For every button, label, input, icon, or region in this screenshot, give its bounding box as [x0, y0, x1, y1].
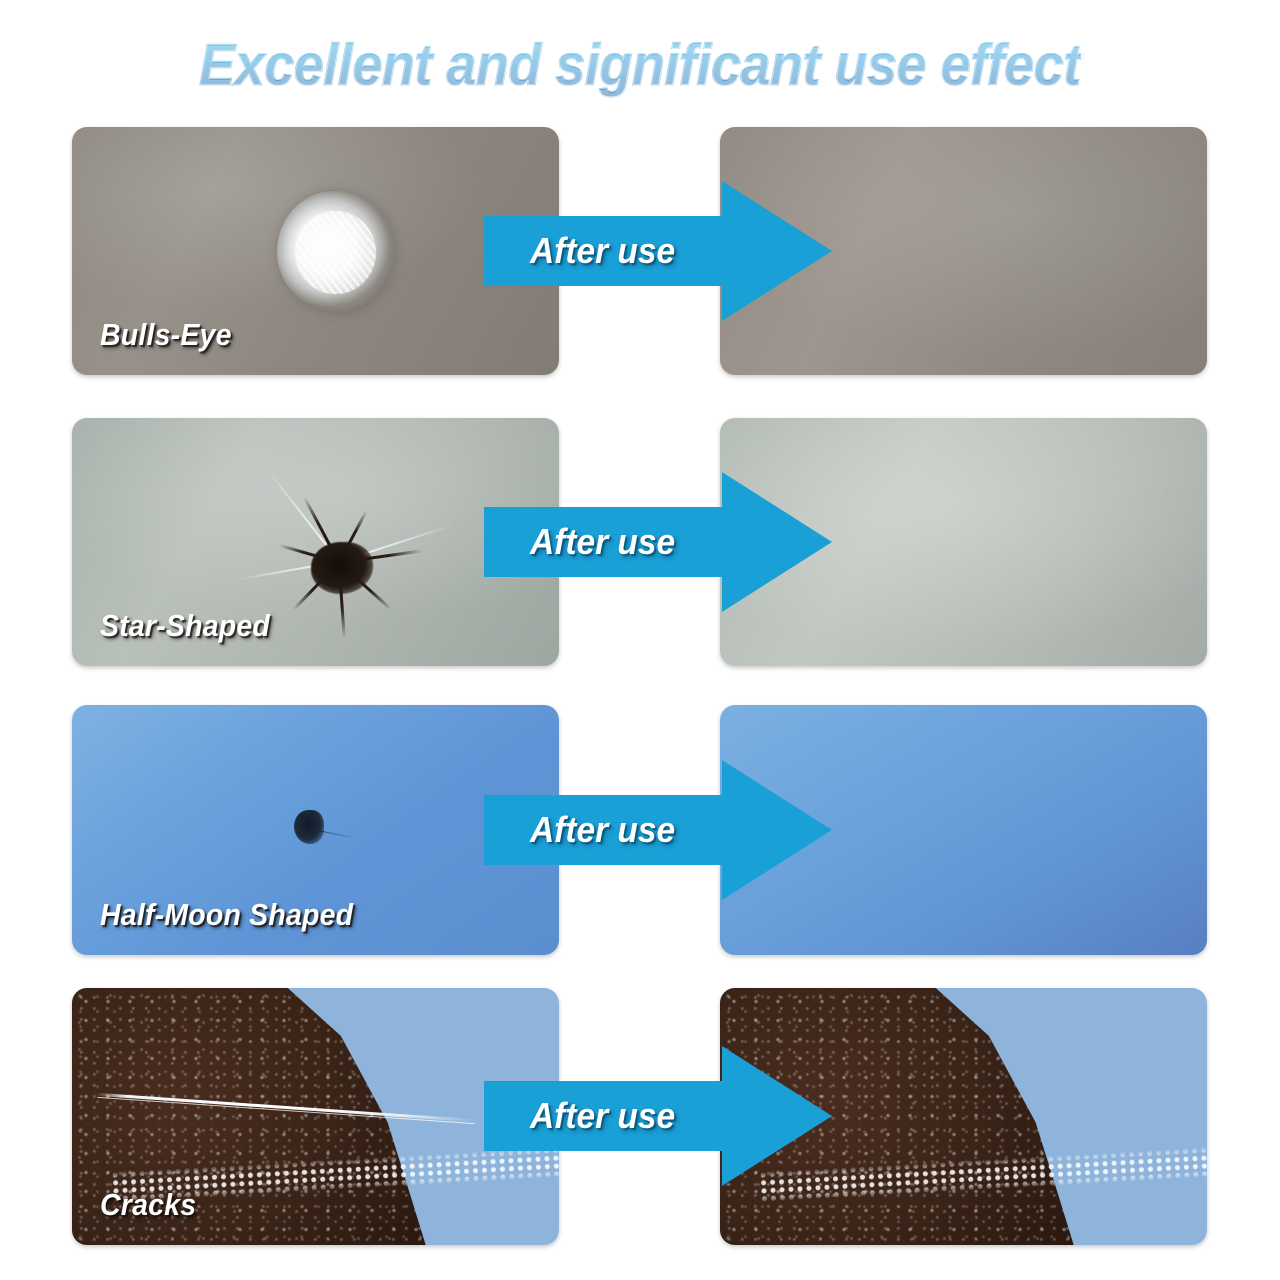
arrow-right-icon — [484, 472, 832, 612]
comparison-row-bulls-eye: Bulls-Eye After use — [0, 127, 1280, 375]
chip-blob — [294, 810, 324, 844]
comparison-row-star-shaped: Star-Shaped After use — [0, 418, 1280, 666]
after-use-arrow: After use — [484, 1046, 832, 1186]
arrow-right-icon — [484, 181, 832, 321]
damage-type-label: Star-Shaped — [100, 608, 270, 644]
damage-type-label: Cracks — [100, 1187, 196, 1223]
comparison-row-half-moon-shaped: Half-Moon Shaped After use — [0, 705, 1280, 955]
arrow-right-icon — [484, 1046, 832, 1186]
page-title: Excellent and significant use effect — [199, 32, 1081, 99]
page-header: Excellent and significant use effect — [0, 32, 1280, 99]
after-use-arrow: After use — [484, 181, 832, 321]
damage-mark-star-shaped — [247, 487, 447, 647]
comparison-row-cracks: Cracks After use — [0, 988, 1280, 1245]
damage-mark-half-moon-shaped — [294, 810, 324, 844]
arrow-right-icon — [484, 760, 832, 900]
damage-type-label: Half-Moon Shaped — [100, 897, 353, 933]
after-use-arrow: After use — [484, 472, 832, 612]
after-use-arrow: After use — [484, 760, 832, 900]
damage-type-label: Bulls-Eye — [100, 317, 232, 353]
